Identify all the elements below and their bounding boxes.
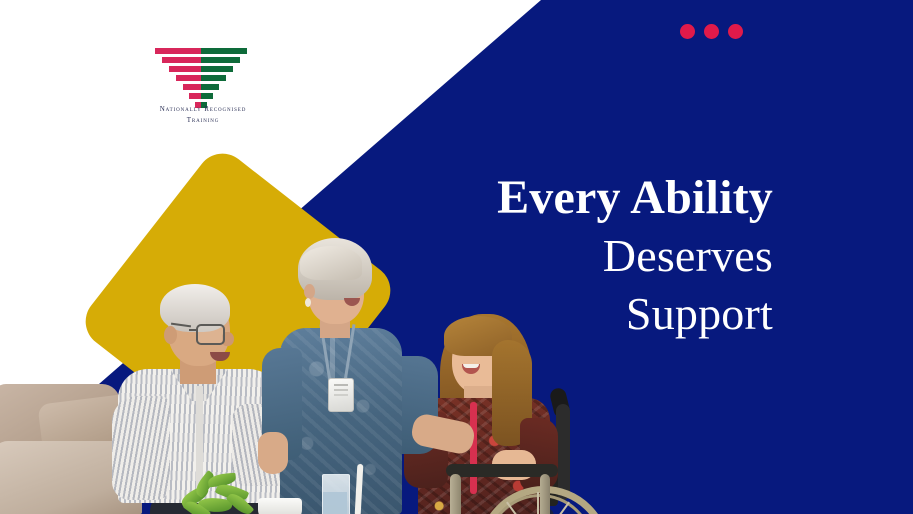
eyeglasses-lens: [196, 324, 225, 345]
logo-text-line-2: Training: [187, 116, 220, 124]
caregiver-earring: [305, 298, 311, 307]
hero-banner: Nationally Recognised Training Every Abi…: [0, 0, 913, 514]
elderly-man-ear: [164, 326, 177, 344]
caregiver-forearm-left: [258, 432, 288, 474]
hero-headline: Every Ability Deserves Support: [497, 172, 773, 338]
wheelchair-user-teeth: [463, 364, 479, 368]
headline-line-3: Support: [497, 289, 773, 338]
headline-line-2: Deserves: [497, 231, 773, 280]
logo-bar: [155, 48, 247, 54]
wheelchair-front-post-right: [540, 474, 550, 514]
dot-icon: [680, 24, 695, 39]
logo-bar: [183, 84, 219, 90]
decorative-dots: [680, 24, 743, 39]
wheelchair-front-post-left: [450, 474, 461, 514]
dot-icon: [704, 24, 719, 39]
dot-icon: [728, 24, 743, 39]
wheelchair-user-top-trim: [470, 402, 477, 494]
id-badge: [328, 378, 354, 412]
logo-bar: [189, 93, 213, 99]
wheelchair-back-post: [556, 404, 570, 500]
logo-bar: [176, 75, 226, 81]
headline-line-1: Every Ability: [497, 172, 773, 223]
logo-text-line-1: Nationally Recognised: [160, 105, 247, 113]
water-glass-fill: [323, 492, 347, 514]
logo-bar: [162, 57, 240, 63]
wheelchair-spoke: [537, 492, 539, 514]
caregiver-ear: [304, 284, 315, 299]
cup: [258, 498, 302, 514]
potted-plant: [178, 474, 262, 514]
logo-text: Nationally Recognised Training: [128, 104, 278, 126]
caregiver-fringe: [300, 246, 362, 280]
eyeglasses-bridge: [189, 329, 198, 331]
elderly-man-arm-left: [112, 396, 170, 500]
logo-bar: [169, 66, 233, 72]
